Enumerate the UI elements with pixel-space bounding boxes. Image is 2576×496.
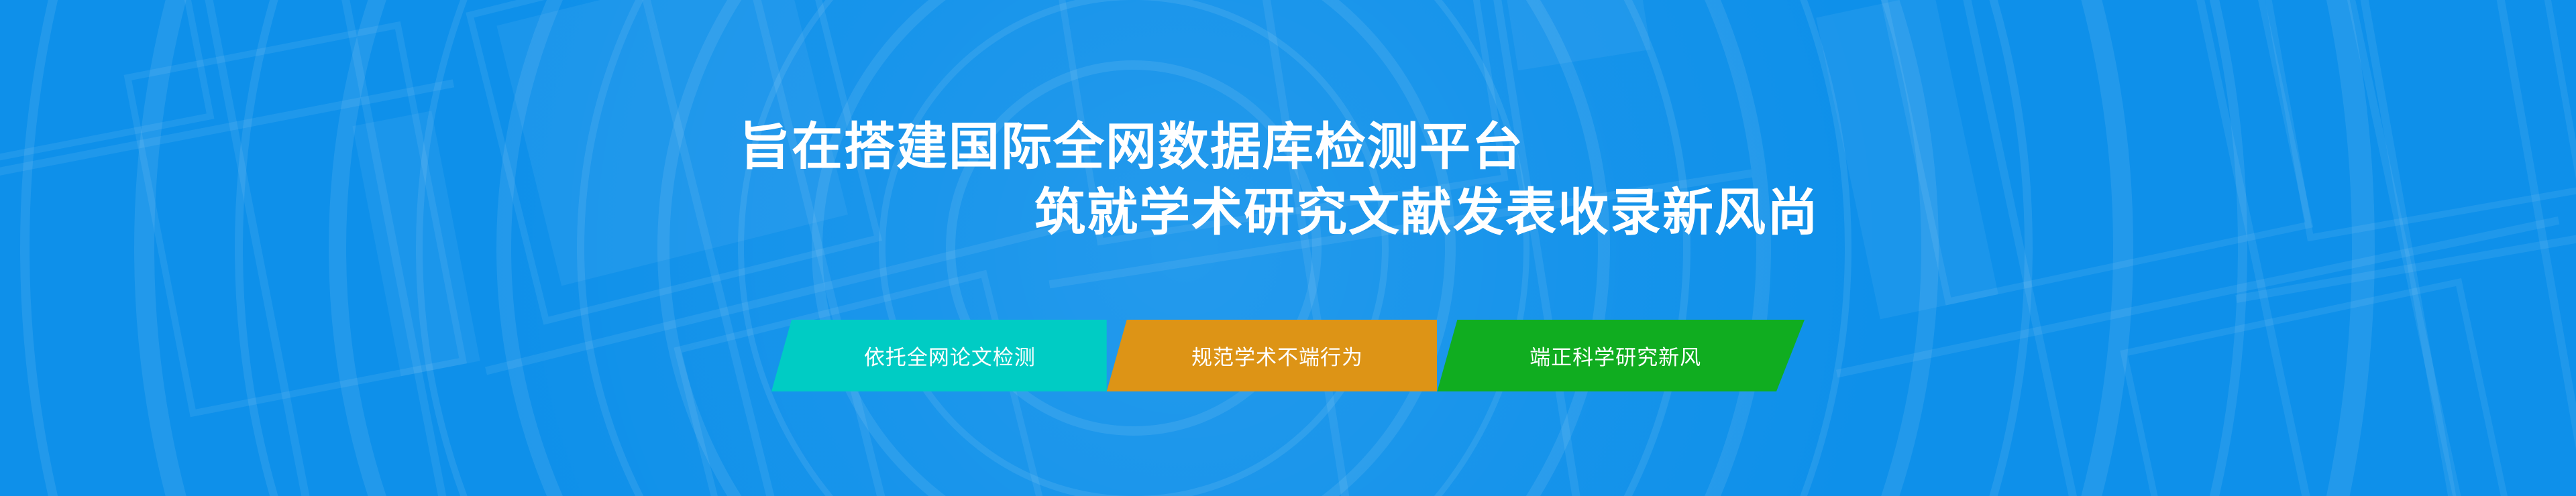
headline-line-1: 旨在搭建国际全网数据库检测平台 xyxy=(0,114,1819,180)
tab-academic-misconduct-label: 规范学术不端行为 xyxy=(1191,340,1363,371)
grid-line xyxy=(2477,0,2576,496)
grid-cluster-right xyxy=(1721,0,2576,496)
tab-academic-misconduct[interactable]: 规范学术不端行为 xyxy=(1099,320,1438,391)
tab-research-ethics-label: 端正科学研究新风 xyxy=(1529,340,1701,371)
grid-block xyxy=(1816,0,1998,319)
grid-cluster-far-right xyxy=(2161,0,2576,496)
tab-research-ethics[interactable]: 端正科学研究新风 xyxy=(1429,320,1805,391)
grid-line xyxy=(2150,0,2345,496)
grid-line xyxy=(1919,0,2122,496)
grid-rect xyxy=(2120,278,2525,496)
grid-rect xyxy=(2261,0,2576,241)
feature-tab-strip: 依托全网论文检测 规范学术不端行为 端正科学研究新风 xyxy=(771,320,1805,391)
tab-plagiarism-detection-label: 依托全网论文检测 xyxy=(864,340,1036,371)
grid-line xyxy=(2306,0,2489,496)
grid-rect xyxy=(1876,0,2314,306)
grid-line xyxy=(2332,0,2480,496)
headline-block: 旨在搭建国际全网数据库检测平台 筑就学术研究文献发表收录新风尚 xyxy=(0,0,1819,245)
headline-line-2: 筑就学术研究文献发表收录新风尚 xyxy=(0,180,1819,245)
tab-plagiarism-detection[interactable]: 依托全网论文检测 xyxy=(771,320,1107,391)
grid-line xyxy=(1836,216,2559,377)
promo-banner: 旨在搭建国际全网数据库检测平台 筑就学术研究文献发表收录新风尚 依托全网论文检测… xyxy=(0,0,2576,496)
grid-line xyxy=(2235,214,2576,303)
